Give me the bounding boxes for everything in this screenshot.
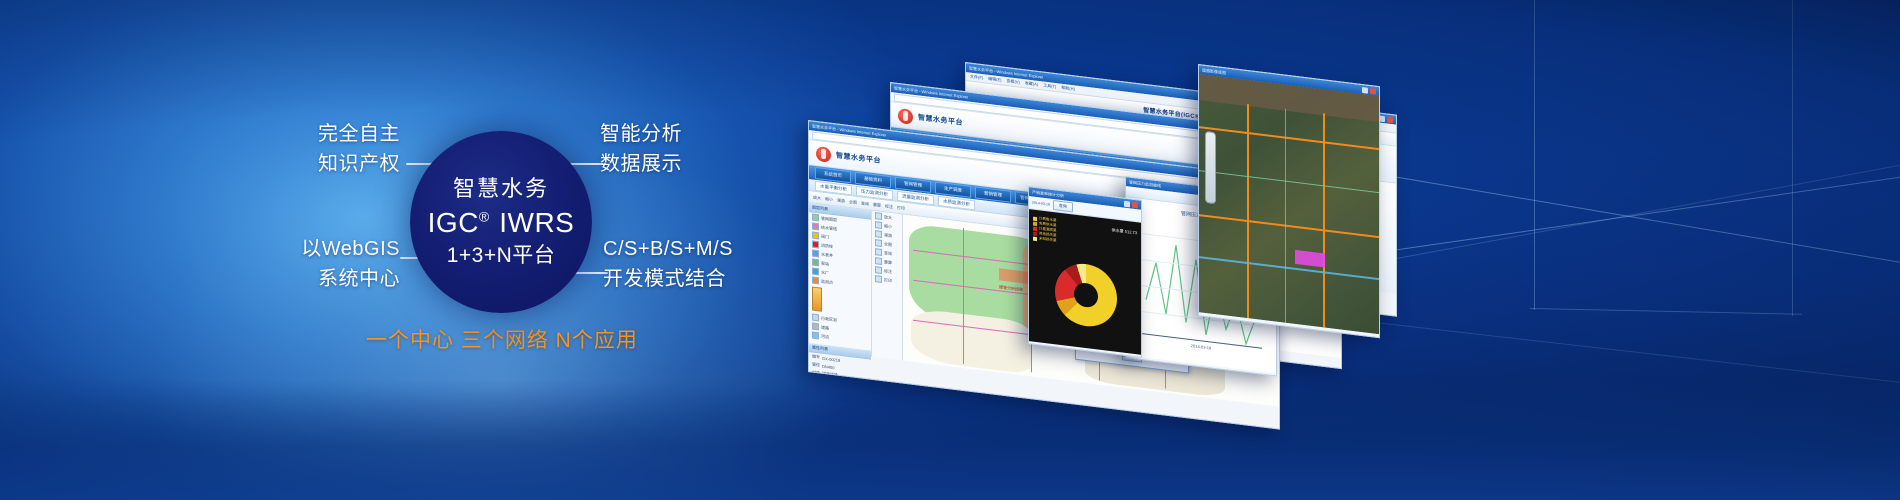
hub-en-iwrs: IWRS [499,207,574,238]
feature-top-left-line2: 知识产权 [200,149,400,179]
feature-bottom-right-line1: C/S+B/S+M/S [603,234,863,264]
tool-label: 放大 [884,214,892,221]
satellite-canvas[interactable] [1199,74,1379,334]
feature-top-right-line2: 数据展示 [600,149,830,179]
attr-row: 建设年份2013 [809,392,871,408]
hub-cn-title: 智慧水务 [453,178,549,200]
window-satellite-map[interactable]: 遥感影像底图 [1198,64,1380,338]
water-drop-logo-icon [898,107,913,124]
menu-item-file[interactable]: 文件(F) [970,74,983,82]
attr-key: 长度 [812,385,820,392]
attr-key: 管径 [812,361,820,368]
attr-value: DN400 [822,363,834,370]
map-tool-pan[interactable]: 漫游 [837,197,845,204]
map-tool-query[interactable]: 查询 [861,200,869,207]
tool-label: 标注 [884,268,892,275]
layer-label: 管网图层 [821,215,837,223]
hub-circle: 智慧水务 IGC®IWRS 1+3+N平台 [410,131,592,313]
feature-bottom-left-line2: 系统中心 [190,264,400,294]
menu-item-favorites[interactable]: 收藏(A) [1025,80,1038,88]
screenshot-stack: 智慧水务平台 - Windows Internet Explorer 文件(F)… [780,0,1900,500]
window-pie-analysis[interactable]: 产销差率统计分析 2014-03-18 查询 计费售水量 免费供水量 计量漏损量… [1028,186,1142,358]
map-tool-column[interactable]: 放大 缩小 漫游 全图 查询 量算 标注 打印 [872,211,903,361]
hub-reg-mark: ® [479,209,489,225]
brand-name: 智慧水务平台 [836,150,881,165]
menu-item-edit[interactable]: 编辑(E) [988,76,1001,84]
layer-label: 行政区划 [821,315,837,323]
attr-key: 建设年份 [812,393,828,401]
feature-top-right: 智能分析 数据展示 [600,119,830,179]
menu-item-tools[interactable]: 工具(T) [1043,83,1056,91]
menu-item-help[interactable]: 帮助(H) [1061,85,1075,93]
attr-value: 球墨铸铁 [822,371,838,379]
layer-label: 河流 [821,333,829,340]
feature-top-left: 完全自主 知识产权 [200,119,400,179]
map-tool-label[interactable]: 标注 [885,203,893,210]
satellite-zoom-slider[interactable] [1205,131,1216,204]
attr-key: 编号 [812,353,820,360]
attr-value: 2013 [830,396,839,402]
attr-row: 埋深1.80 m [809,376,871,392]
feature-bottom-right: C/S+B/S+M/S 开发模式结合 [603,234,863,294]
attr-key: 材质 [812,369,820,376]
feature-bottom-left: 以WebGIS 系统中心 [190,234,400,294]
attr-row: 长度326.5 m [809,384,871,400]
pie-legend-label: 未知损失量 [1039,236,1057,243]
map-tool-measure[interactable]: 量算 [873,201,881,208]
hub-subtitle: 1+3+N平台 [447,245,556,266]
tool-label: 缩小 [884,223,892,230]
pie-filter-label: 2014-03-18 [1032,200,1050,206]
tagline: 一个中心 三个网络 N个应用 [366,324,638,354]
attr-value: 1.80 m [822,379,834,385]
tool-label: 全图 [884,241,892,248]
pie-center-label: 供水量 512.73 [1112,227,1137,236]
tool-label: 查询 [884,250,892,257]
menu-item-view[interactable]: 查看(V) [1006,78,1019,86]
map-tool-zoomout[interactable]: 缩小 [825,196,833,203]
hub-en-title: IGC®IWRS [428,209,575,237]
brand-name: 智慧水务平台 [918,112,963,127]
pie-legend: 计费售水量 免费供水量 计量漏损量 其他损失量 未知损失量 [1033,216,1057,244]
map-tool-zoomin[interactable]: 放大 [813,194,821,201]
layer-label: 道路 [821,324,829,331]
tool-label: 打印 [884,277,892,284]
feature-bottom-left-line1: 以WebGIS [190,234,400,264]
feature-top-right-line1: 智能分析 [600,119,830,149]
feature-top-left-line1: 完全自主 [200,119,400,149]
attr-key: 埋深 [812,377,820,384]
pie-canvas: 计费售水量 免费供水量 计量漏损量 其他损失量 未知损失量 供水量 512.73 [1029,209,1141,355]
layer-label: 给水管线 [821,224,837,232]
tool-label: 漫游 [884,232,892,239]
banner-root: 智慧水务 IGC®IWRS 1+3+N平台 完全自主 知识产权 智能分析 数据展… [0,0,1900,500]
pie-query-button[interactable]: 查询 [1053,200,1073,212]
map-tool-print[interactable]: 打印 [897,204,905,211]
attr-value: 326.5 m [822,387,836,394]
map-tool-fullextent[interactable]: 全图 [849,199,857,206]
hub-en-igc: IGC [428,207,479,238]
tool-label: 量算 [884,259,892,266]
feature-bottom-right-line2: 开发模式结合 [603,264,863,294]
